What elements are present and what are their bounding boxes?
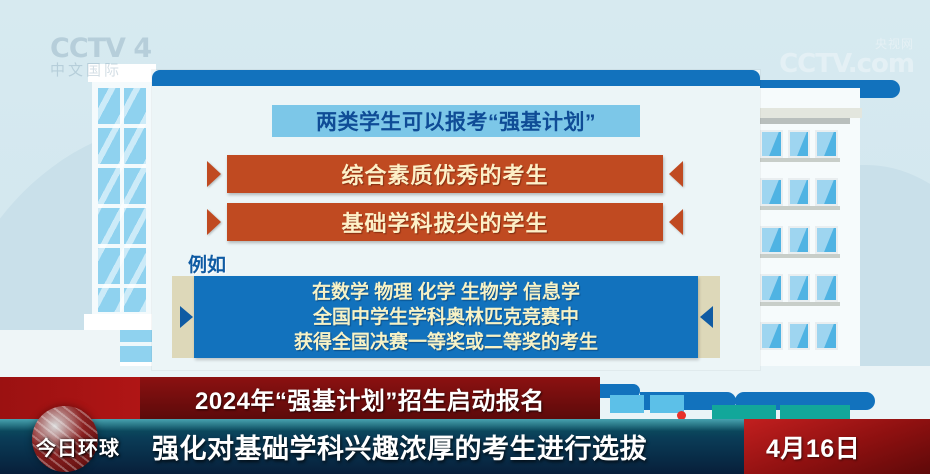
triangle-right-icon [207, 209, 221, 235]
news-ticker-text: 强化对基础学科兴趣浓厚的考生进行选拔 [152, 427, 647, 466]
window-pane [815, 274, 838, 302]
window-pane [815, 226, 838, 254]
building-right-roof-shadow [752, 118, 850, 124]
example-box: 在数学 物理 化学 生物学 信息学 全国中学生学科奥林匹克竞赛中 获得全国决赛一… [194, 276, 698, 358]
window-pane [760, 130, 783, 158]
example-label: 例如 [188, 250, 226, 277]
triangle-left-icon [700, 306, 713, 328]
building-window-row [760, 322, 838, 350]
window-pane [788, 130, 811, 158]
triangle-right-icon [207, 161, 221, 187]
category-row-1: 综合素质优秀的考生 [207, 155, 683, 193]
category-bar-2: 基础学科拔尖的学生 [227, 203, 663, 241]
example-line-3: 获得全国决赛一等奖或二等奖的考生 [294, 330, 598, 355]
window-pane [788, 274, 811, 302]
building-window-row [760, 274, 838, 302]
window-pane [815, 130, 838, 158]
example-line-2: 全国中学生学科奥林匹克竞赛中 [313, 305, 579, 330]
window-pane [815, 322, 838, 350]
date-text: 4月16日 [766, 429, 860, 465]
window-pane [760, 322, 783, 350]
window-sill [758, 254, 840, 258]
cctv4-logo-text: CCTV 4 [50, 36, 178, 62]
headline-box: 2024年“强基计划”招生启动报名 [140, 377, 600, 419]
date-box: 4月16日 [744, 419, 930, 474]
building-window-row [760, 178, 838, 206]
window-sill [758, 206, 840, 210]
info-panel-topbar [152, 70, 760, 86]
example-line-1: 在数学 物理 化学 生物学 信息学 [312, 280, 580, 305]
page-title: 两类学生可以报考“强基计划” [316, 106, 596, 136]
category-label-2: 基础学科拔尖的学生 [341, 206, 548, 238]
triangle-left-icon [669, 209, 683, 235]
broadcast-screenshot: CCTV 4 中文国际 央视网 CCTV.com 两类学生可以报考“强基计划” … [0, 0, 930, 474]
building-window-row [760, 226, 838, 254]
window-sill [758, 158, 840, 162]
window-pane [760, 178, 783, 206]
window-pane [760, 226, 783, 254]
building-left-tower-sheen [98, 88, 146, 312]
program-logo: 今日环球 [10, 404, 142, 474]
window-pane [815, 178, 838, 206]
window-pane [760, 274, 783, 302]
news-ticker-text-wrap: 强化对基础学科兴趣浓厚的考生进行选拔 [152, 419, 647, 474]
window-sill [758, 302, 840, 306]
window-pane [788, 226, 811, 254]
headline-text: 2024年“强基计划”招生启动报名 [195, 381, 545, 416]
building-right-roof [752, 108, 862, 118]
category-row-2: 基础学科拔尖的学生 [207, 203, 683, 241]
info-panel-title-chip: 两类学生可以报考“强基计划” [272, 105, 640, 137]
cctv-com-watermark: 央视网 CCTV.com [779, 38, 914, 77]
example-row: 在数学 物理 化学 生物学 信息学 全国中学生学科奥林匹克竞赛中 获得全国决赛一… [172, 276, 720, 358]
triangle-left-icon [669, 161, 683, 187]
window-pane [788, 322, 811, 350]
triangle-right-icon [180, 306, 193, 328]
category-bar-1: 综合素质优秀的考生 [227, 155, 663, 193]
program-name: 今日环球 [16, 432, 140, 461]
cctv-com-watermark-en: CCTV.com [779, 51, 914, 77]
window-pane [788, 178, 811, 206]
category-label-1: 综合素质优秀的考生 [341, 158, 548, 190]
building-window-row [760, 130, 838, 158]
